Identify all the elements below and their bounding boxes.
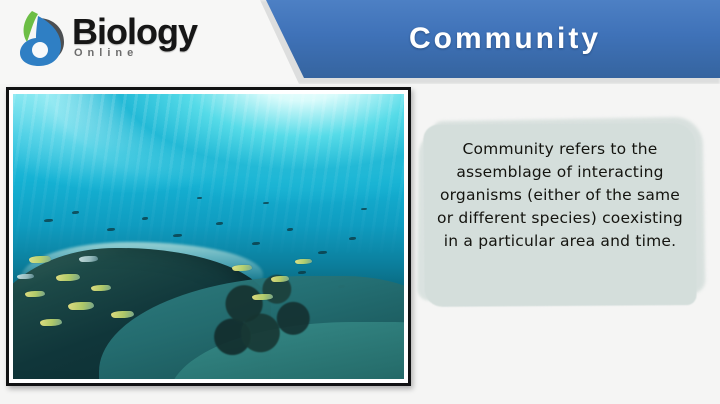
leaf-water-drop-b-logo-icon <box>16 8 68 68</box>
fish <box>349 237 356 240</box>
brand-logo[interactable]: Biology Online <box>16 8 197 68</box>
fish <box>252 294 273 300</box>
fish <box>56 274 80 281</box>
coral-clump <box>209 265 326 362</box>
fish <box>173 234 182 237</box>
fish <box>287 228 293 231</box>
fish <box>232 265 252 271</box>
photo-mat <box>9 90 408 383</box>
slide-canvas: Community Biology Online <box>0 0 720 404</box>
fish <box>111 311 134 318</box>
header-bar: Community Biology Online <box>0 0 720 84</box>
underwater-coral-reef-photo <box>13 94 404 379</box>
fish <box>72 211 79 214</box>
photo-frame <box>6 87 411 386</box>
definition-panel: Community refers to the assemblage of in… <box>424 124 696 306</box>
fish <box>91 285 111 291</box>
page-title: Community <box>300 22 710 56</box>
fish <box>361 208 367 210</box>
brand-name: Biology <box>72 13 197 51</box>
fish <box>318 251 327 254</box>
fish <box>142 217 148 220</box>
fish <box>68 302 94 310</box>
fish <box>17 274 34 279</box>
sunlight-rays <box>13 94 404 259</box>
fish <box>25 291 45 297</box>
fish <box>197 197 202 199</box>
definition-text: Community refers to the assemblage of in… <box>432 138 688 253</box>
brand-wordmark: Biology Online <box>72 13 197 63</box>
fish <box>107 228 115 231</box>
